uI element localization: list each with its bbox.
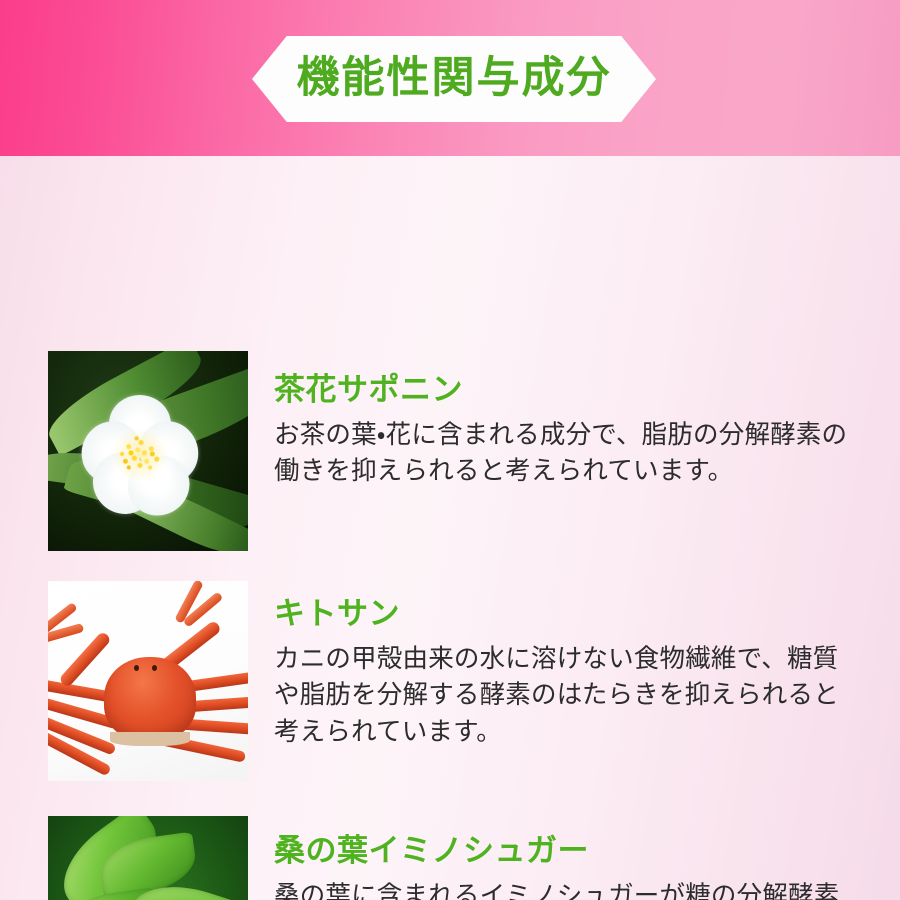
ingredient-title: 茶花サポニン [274, 373, 859, 407]
tea-flower-photo [48, 351, 248, 551]
ingredient-item: 桑の葉イミノシュガー 桑の葉に含まれるイミノシュガーが糖の分解酵素の働きを抑えら… [48, 816, 859, 900]
mulberry-illustration [48, 816, 248, 900]
crab-eye [134, 665, 139, 671]
ingredient-description: 桑の葉に含まれるイミノシュガーが糖の分解酵素の働きを抑えられると考えられています… [274, 878, 859, 900]
header-ribbon-banner: 機能性関与成分 [252, 36, 656, 122]
crab-eye [152, 665, 157, 671]
ingredient-text-block: 桑の葉イミノシュガー 桑の葉に含まれるイミノシュガーが糖の分解酵素の働きを抑えら… [274, 816, 859, 900]
flower-stamen [112, 429, 168, 481]
ingredient-text-block: キトサン カニの甲殻由来の水に溶けない食物繊維で、糖質や脂肪を分解する酵素のはた… [274, 581, 859, 750]
ingredient-title: 桑の葉イミノシュガー [274, 834, 859, 868]
page-header: 機能性関与成分 [0, 0, 900, 156]
ingredient-item: キトサン カニの甲殻由来の水に溶けない食物繊維で、糖質や脂肪を分解する酵素のはた… [48, 581, 859, 781]
camellia-flower-icon [84, 399, 196, 511]
page-title: 機能性関与成分 [297, 57, 612, 100]
ingredient-description: お茶の葉・花に含まれる成分で、脂肪の分解酵素の働きを抑えられると考えられています… [274, 417, 859, 489]
crab-claw-arm [58, 631, 112, 689]
crab-photo [48, 581, 248, 781]
crab-illustration [48, 581, 248, 781]
mulberry-leaf-photo [48, 816, 248, 900]
ingredient-info-page: 機能性関与成分 [0, 0, 900, 900]
ingredient-item: 茶花サポニン お茶の葉・花に含まれる成分で、脂肪の分解酵素の働きを抑えられると考… [48, 351, 859, 551]
crab-carapace [104, 657, 196, 741]
ingredient-description: カニの甲殻由来の水に溶けない食物繊維で、糖質や脂肪を分解する酵素のはたらきを抑え… [274, 641, 859, 750]
tea-flower-illustration [48, 351, 248, 551]
ingredient-title: キトサン [274, 597, 859, 631]
ingredient-text-block: 茶花サポニン お茶の葉・花に含まれる成分で、脂肪の分解酵素の働きを抑えられると考… [274, 351, 859, 490]
